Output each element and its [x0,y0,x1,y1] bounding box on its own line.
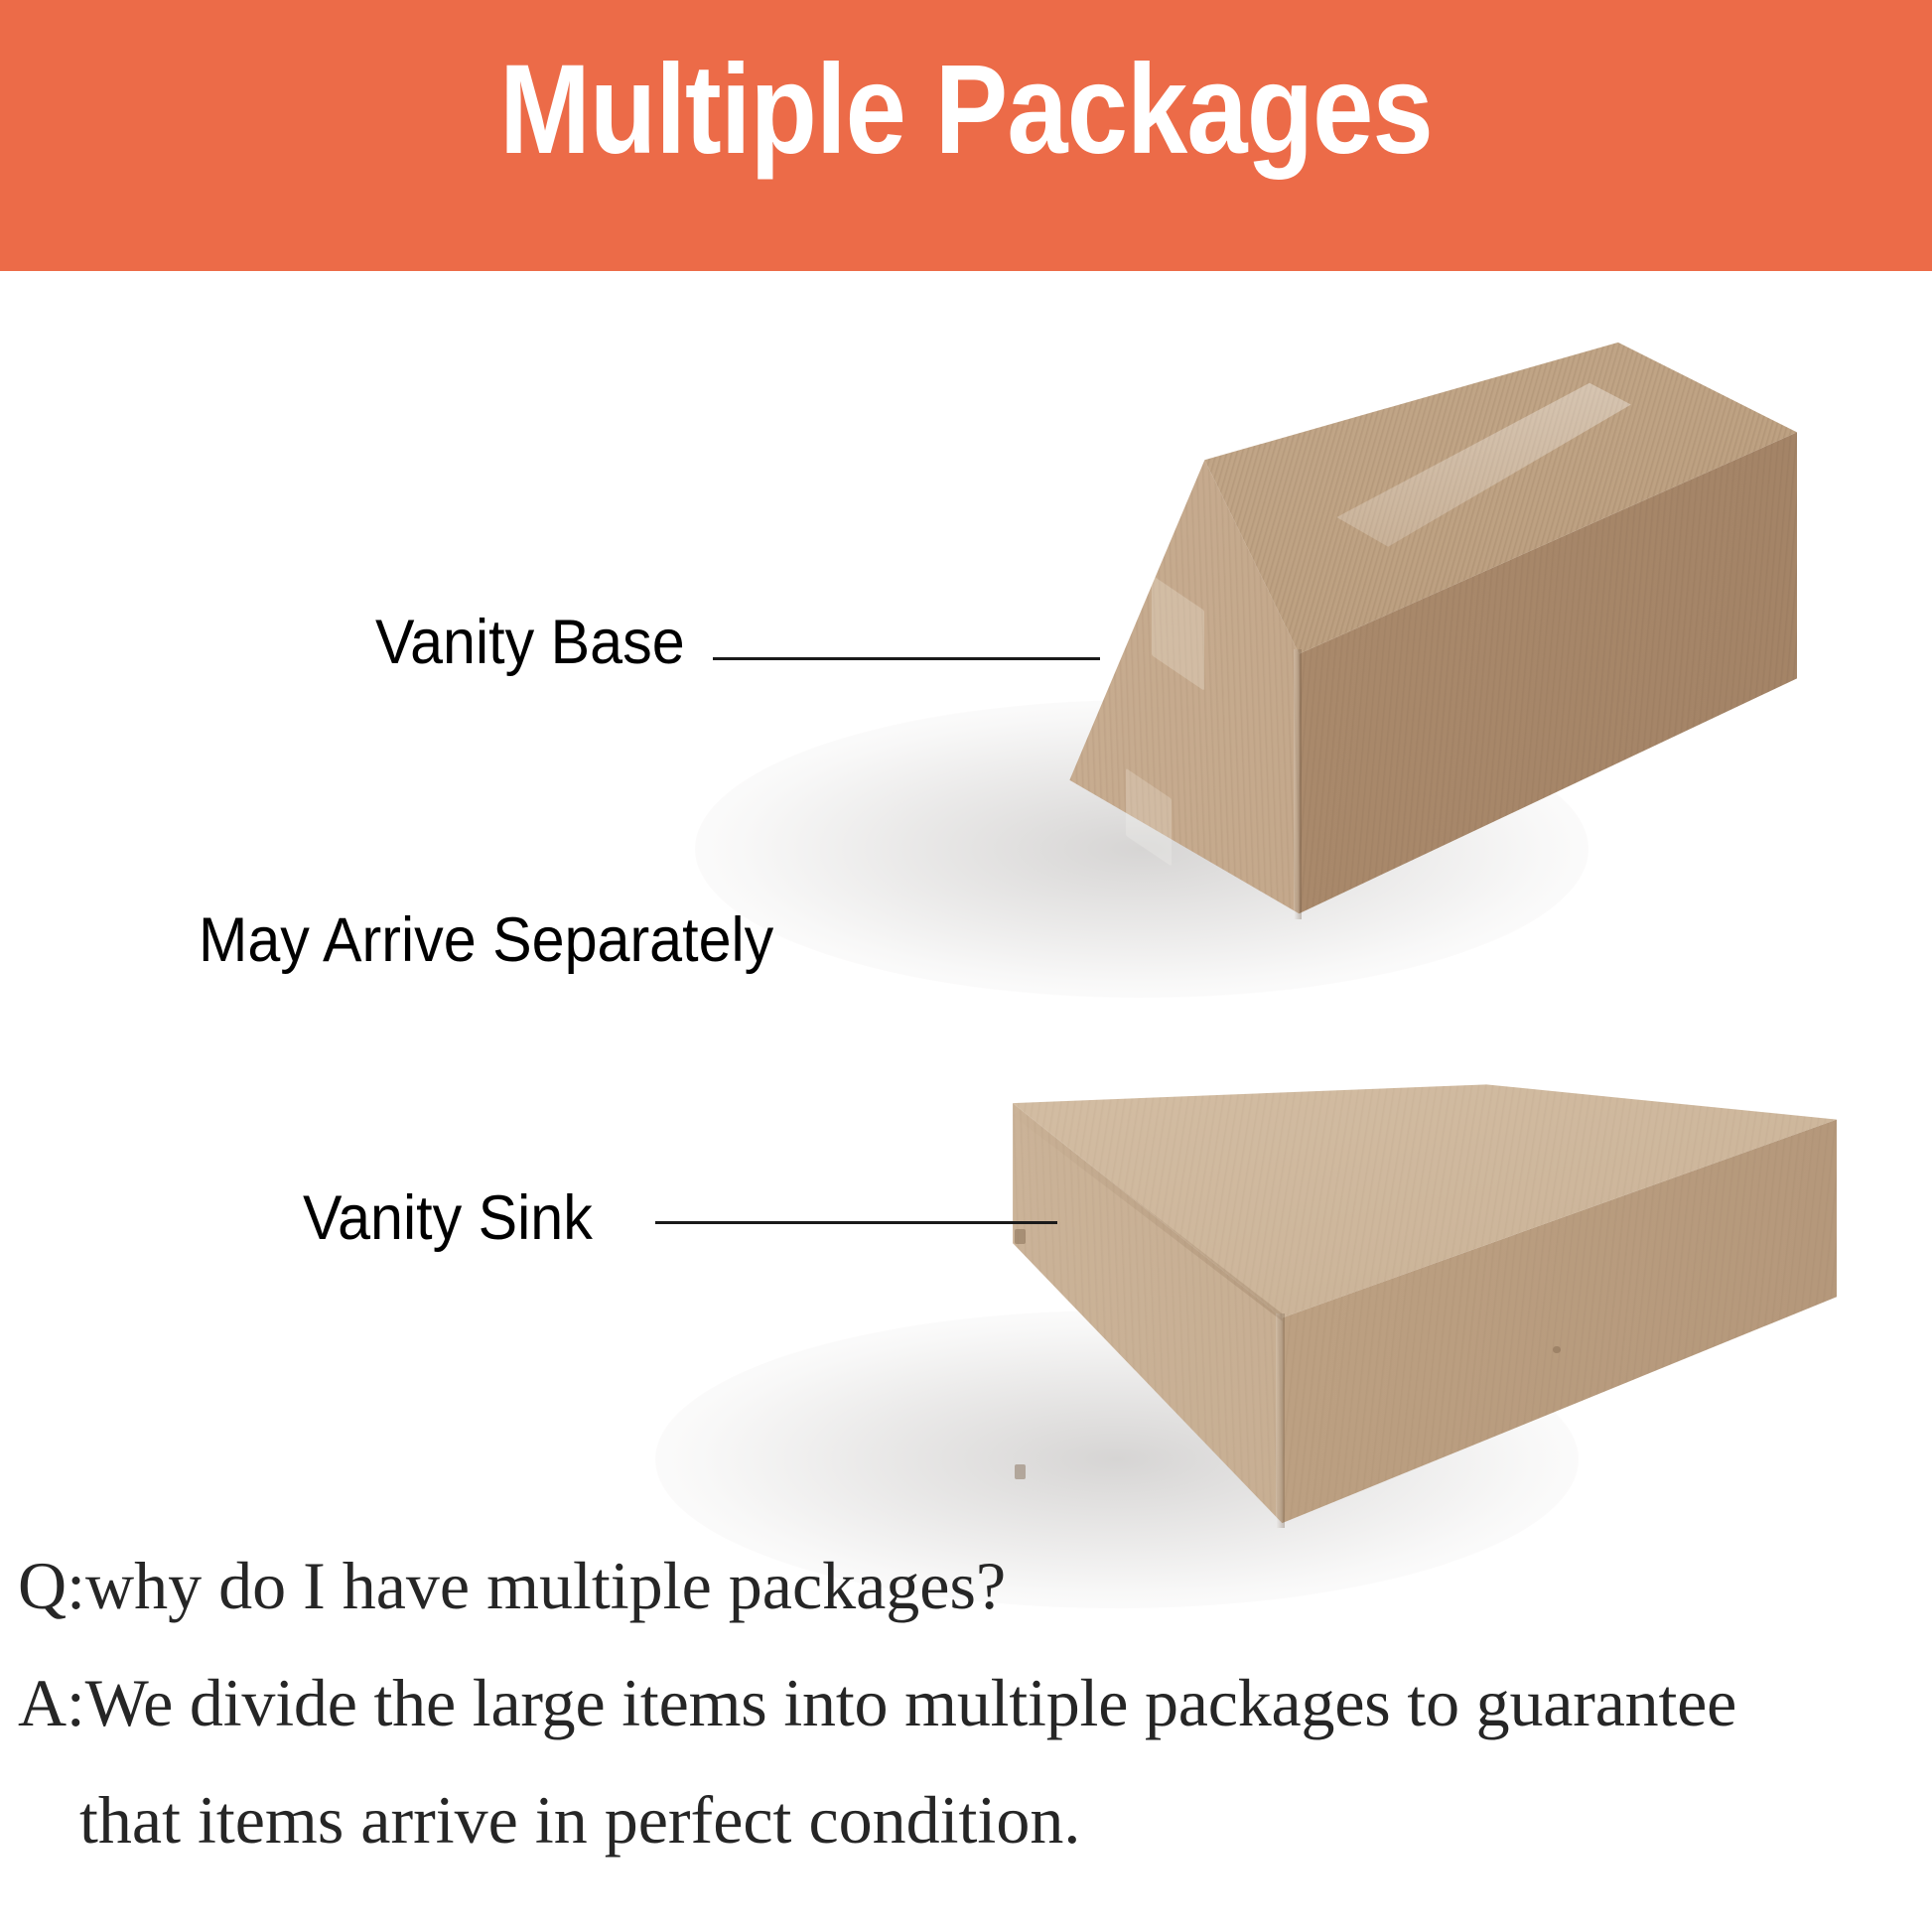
box-staple [1015,1229,1026,1244]
box-surface-mark [1553,1346,1561,1354]
box-front-corner-seam [1294,649,1302,920]
box-staple [1015,1464,1026,1479]
callout-leader-line-vanity-base [713,657,1100,660]
box-front-corner-seam [1276,1313,1285,1528]
faq-answer-line-1: A:We divide the large items into multipl… [18,1644,1924,1761]
cardboard-box-vanity-sink [1003,1082,1837,1549]
infographic-page: Multiple Packages Vanity Base May Arrive… [0,0,1932,1932]
callout-leader-line-vanity-sink [655,1221,1057,1224]
page-title: Multiple Packages [135,36,1797,185]
callout-label-vanity-sink: Vanity Sink [303,1183,593,1253]
faq-block: Q:why do I have multiple packages? A:We … [18,1527,1924,1878]
faq-question: Q:why do I have multiple packages? [18,1527,1924,1644]
cardboard-box-vanity-base [1042,328,1797,943]
header-banner: Multiple Packages [0,0,1932,271]
notice-may-arrive-separately: May Arrive Separately [199,905,773,975]
callout-label-vanity-base: Vanity Base [375,608,685,677]
faq-answer-line-2: that items arrive in perfect condition. [18,1761,1924,1878]
